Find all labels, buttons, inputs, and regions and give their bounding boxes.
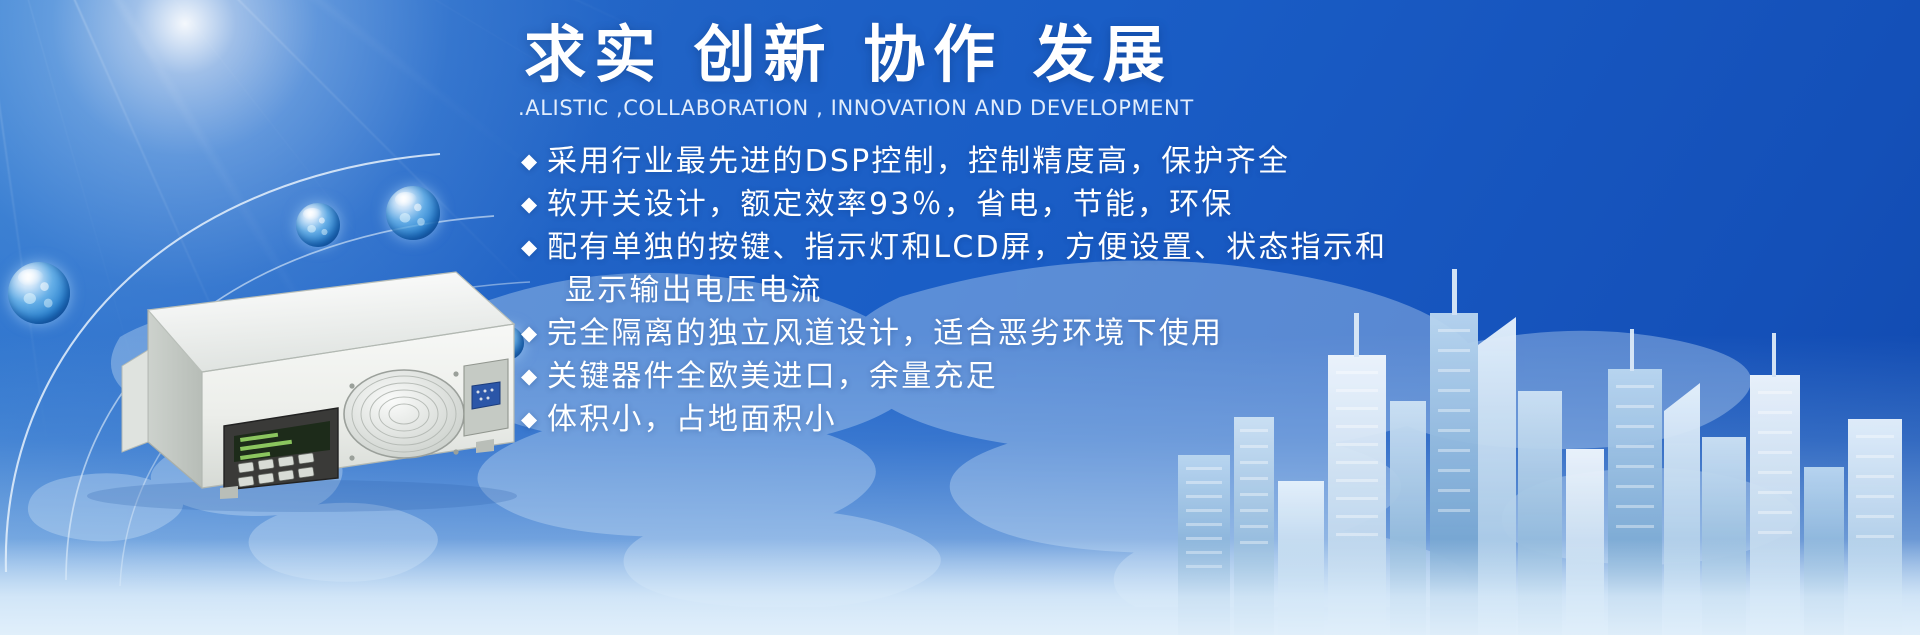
diamond-bullet-icon: ◆ [521,140,547,183]
list-item: ◆ 体积小，占地面积小 [521,398,1451,441]
list-item-label: 配有单独的按键、指示灯和LCD屏，方便设置、状态指示和 [547,226,1387,269]
list-item-label: 关键器件全欧美进口，余量充足 [547,355,998,398]
diamond-bullet-icon: ◆ [521,312,547,355]
device-connector-port [464,359,508,436]
diamond-bullet-icon: ◆ [521,355,547,398]
feature-list: ◆ 采用行业最先进的DSP控制，控制精度高，保护齐全 ◆ 软开关设计，额定效率9… [521,140,1451,441]
list-item-label: 采用行业最先进的DSP控制，控制精度高，保护齐全 [547,140,1290,183]
diamond-bullet-icon: ◆ [521,183,547,226]
list-item: ◆ 关键器件全欧美进口，余量充足 [521,355,1451,398]
list-item-label: 完全隔离的独立风道设计，适合恶劣环境下使用 [547,312,1223,355]
list-item-label: 显示输出电压电流 [547,269,823,312]
list-item: ◆ 配有单独的按键、指示灯和LCD屏，方便设置、状态指示和 [521,226,1451,269]
list-item-label: 软开关设计，额定效率93％，省电，节能，环保 [547,183,1234,226]
diamond-bullet-icon: ◆ [521,226,547,269]
list-item: ◆ 采用行业最先进的DSP控制，控制精度高，保护齐全 [521,140,1451,183]
diamond-bullet-icon: ◆ [521,398,547,441]
list-item-continuation: ◆ 显示输出电压电流 [521,269,1451,312]
list-item: ◆ 软开关设计，额定效率93％，省电，节能，环保 [521,183,1451,226]
background-bottom-fade [0,539,1920,635]
page-subtitle: .ALISTIC ,COLLABORATION , INNOVATION AND… [518,96,1194,120]
list-item: ◆ 完全隔离的独立风道设计，适合恶劣环境下使用 [521,312,1451,355]
globe-icon [296,203,340,247]
page-title: 求实 创新 协作 发展 [524,22,1173,89]
banner-stage: 求实 创新 协作 发展 .ALISTIC ,COLLABORATION , IN… [0,0,1920,635]
globe-icon [386,186,440,240]
rackmount-power-supply [52,246,522,514]
list-item-label: 体积小，占地面积小 [547,398,837,441]
